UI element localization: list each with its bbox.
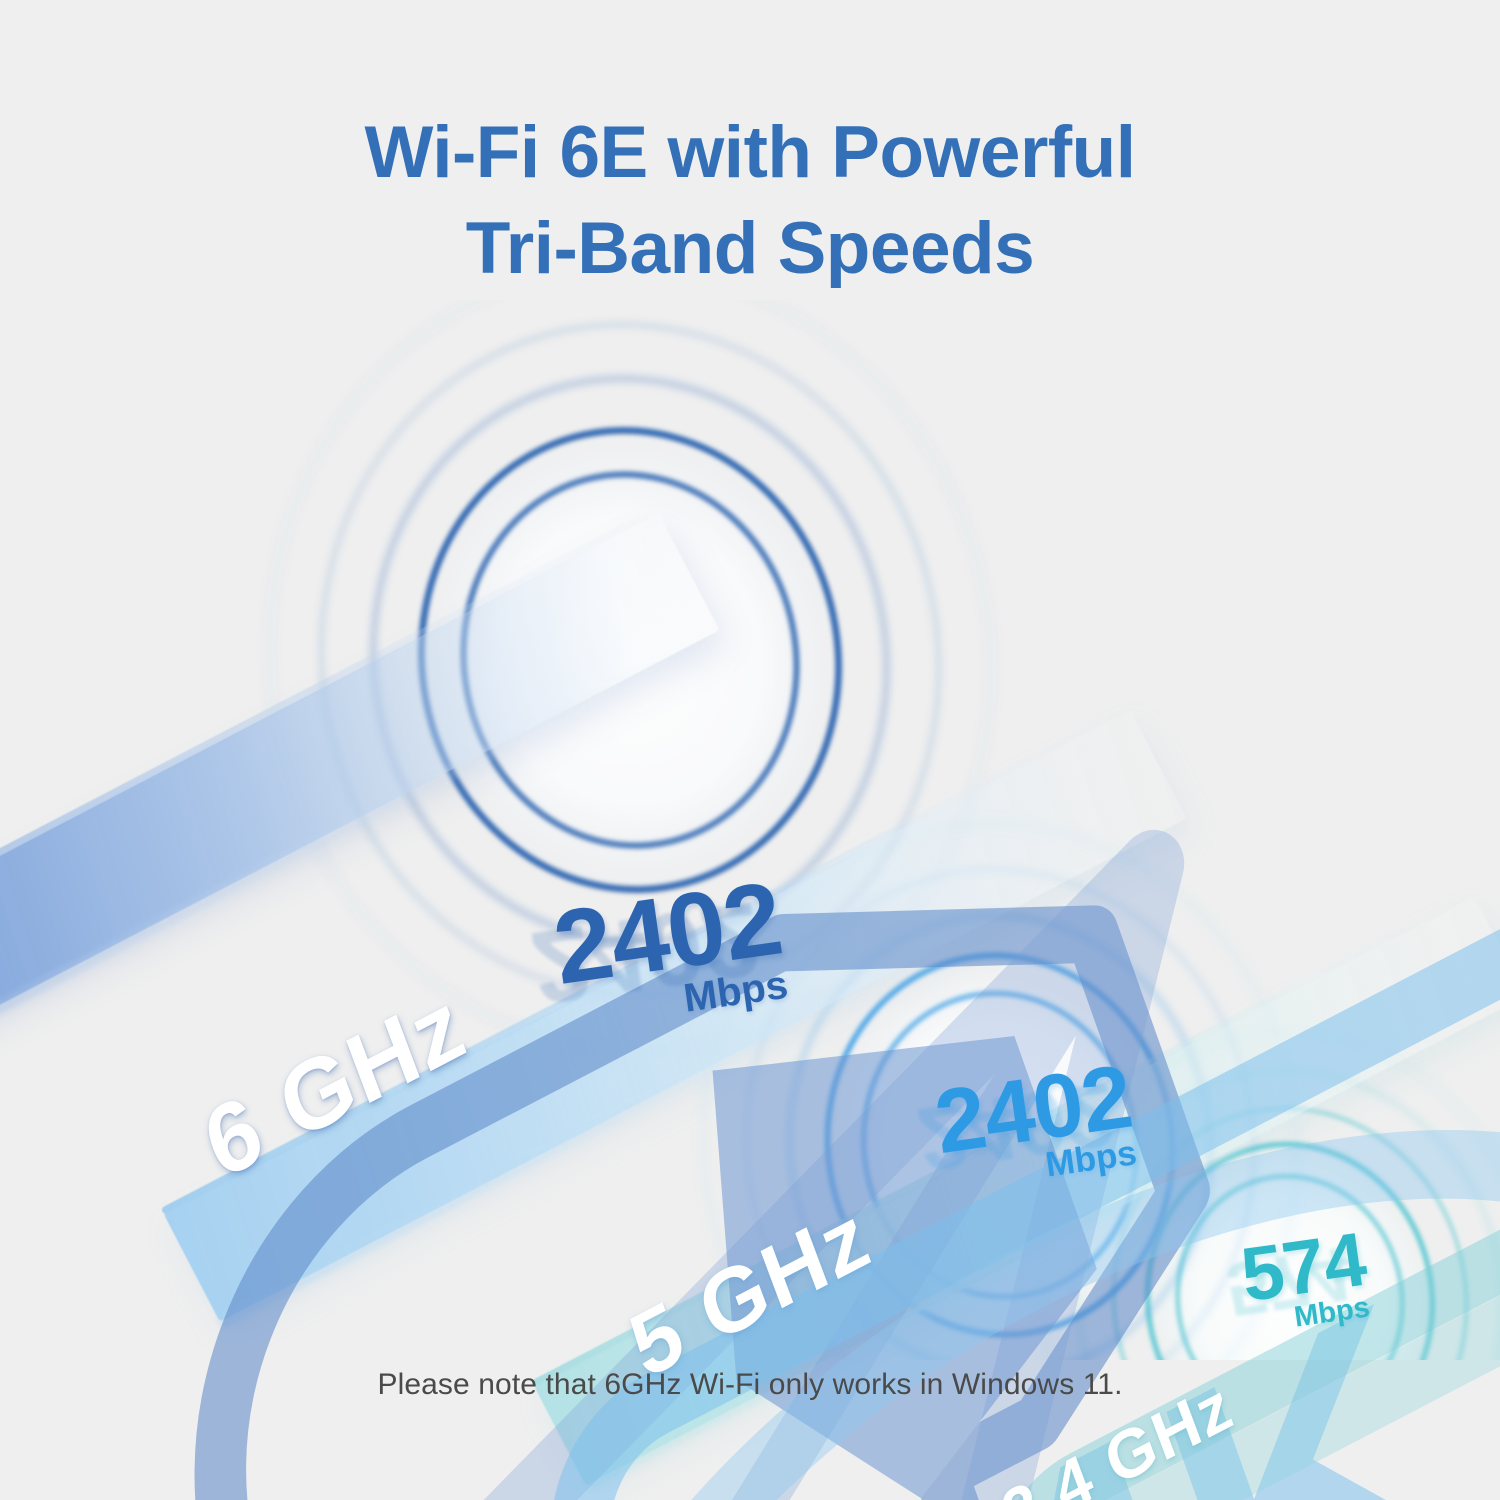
- page-title: Wi-Fi 6E with Powerful Tri-Band Speeds: [0, 105, 1500, 298]
- tri-band-illustration: 4K 1080P 6 GHz 5 GHz 2.4: [0, 300, 1500, 1360]
- footnote-text: Please note that 6GHz Wi-Fi only works i…: [0, 1368, 1500, 1402]
- promo-canvas: Wi-Fi 6E with Powerful Tri-Band Speeds: [0, 0, 1500, 1500]
- speed-label-5ghz: 2402 Mbps: [930, 1053, 1141, 1198]
- speed-label-2p4ghz: 574 Mbps: [1237, 1223, 1374, 1339]
- speed-label-6ghz: 2402 Mbps: [548, 868, 792, 1035]
